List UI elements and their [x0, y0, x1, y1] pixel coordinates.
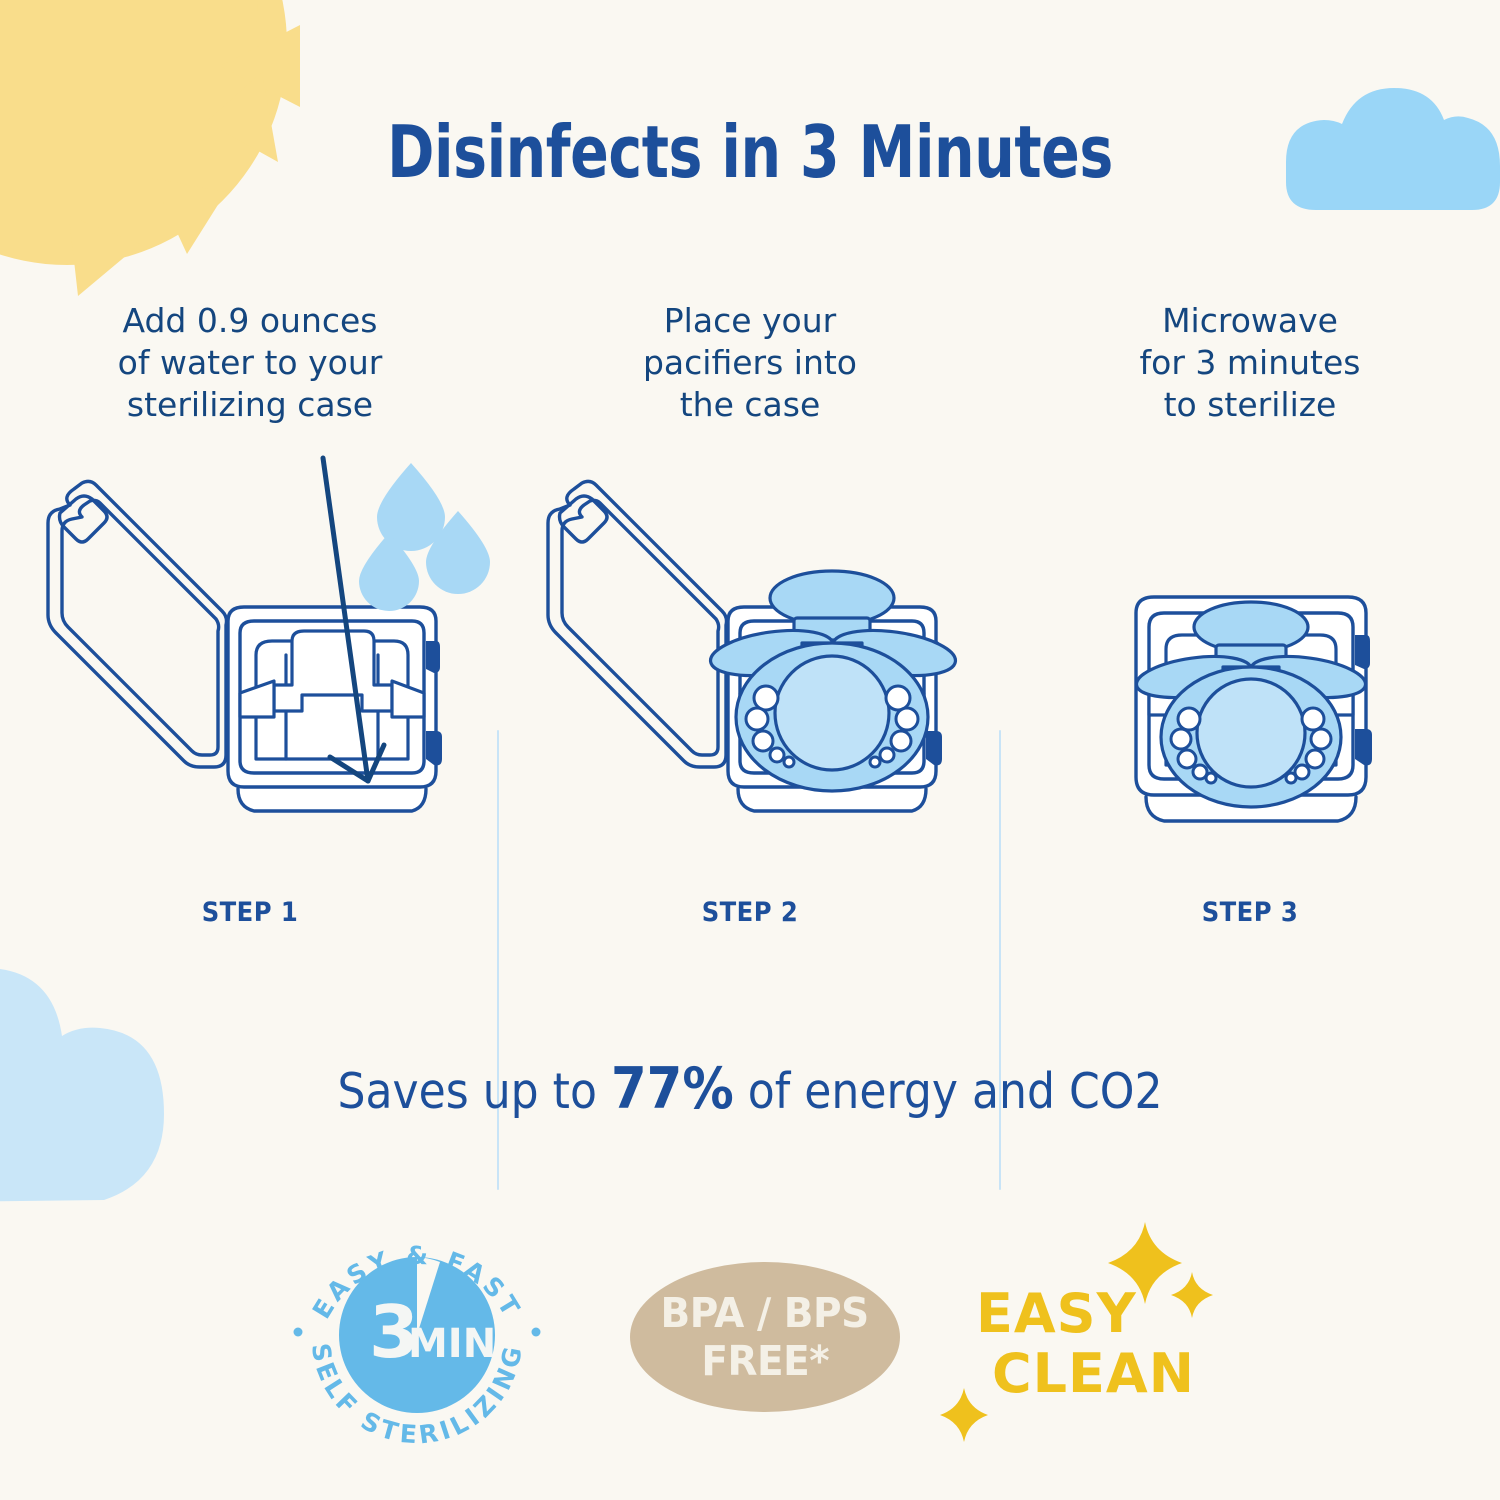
- sparkle-icon: [940, 1388, 988, 1442]
- step-label-1: STEP 1: [52, 897, 448, 928]
- step-caption-line: the case: [680, 385, 821, 424]
- water-drop-icon: [359, 463, 490, 611]
- savings-prefix: Saves up to: [337, 1063, 611, 1120]
- step-caption-line: Microwave: [1162, 301, 1338, 340]
- sparkle-icon: [1171, 1272, 1213, 1318]
- step-caption: Microwave for 3 minutes to sterilize: [1030, 300, 1470, 426]
- badge-easy-clean-line1: EASY: [976, 1282, 1137, 1345]
- step-caption-line: to sterilize: [1164, 385, 1337, 424]
- badge-3min-self-sterilizing: 3 MIN EASY & FAST SELF STERILIZING: [282, 1220, 552, 1450]
- step-caption-line: pacifiers into: [643, 343, 857, 382]
- badge-easy-clean-line2: CLEAN: [992, 1342, 1195, 1405]
- step-caption-line: sterilizing case: [127, 385, 373, 424]
- step-caption-line: for 3 minutes: [1140, 343, 1361, 382]
- step-caption-line: of water to your: [118, 343, 383, 382]
- step-column-2: Place your pacifiers into the case: [530, 300, 970, 950]
- step-column-3: Microwave for 3 minutes to sterilize: [1030, 300, 1470, 950]
- open-case-with-pacifier-illustration: [530, 455, 970, 835]
- infographic-canvas: Disinfects in 3 Minutes Add 0.9 ounces o…: [0, 0, 1500, 1500]
- step-caption: Place your pacifiers into the case: [530, 300, 970, 426]
- savings-suffix: of energy and CO2: [734, 1063, 1163, 1120]
- steps-section: Add 0.9 ounces of water to your steriliz…: [0, 300, 1500, 950]
- step-label-3: STEP 3: [1052, 897, 1448, 928]
- step-label-2: STEP 2: [552, 897, 948, 928]
- badges-row: 3 MIN EASY & FAST SELF STERILIZING BPA /…: [0, 1210, 1500, 1460]
- step-caption: Add 0.9 ounces of water to your steriliz…: [30, 300, 470, 426]
- badge-bpa-line1: BPA / BPS: [661, 1289, 869, 1337]
- step-caption-line: Add 0.9 ounces: [122, 301, 377, 340]
- savings-statement: Saves up to 77% of energy and CO2: [75, 1056, 1425, 1122]
- badge-3min-unit: MIN: [408, 1321, 496, 1367]
- step-column-1: Add 0.9 ounces of water to your steriliz…: [30, 300, 470, 950]
- step-caption-line: Place your: [664, 301, 836, 340]
- badge-easy-clean: EASY CLEAN: [940, 1220, 1220, 1450]
- page-title: Disinfects in 3 Minutes: [90, 110, 1410, 194]
- open-case-with-water-drops-illustration: [30, 455, 470, 835]
- badge-bpa-bps-free: BPA / BPS FREE*: [630, 1262, 900, 1412]
- savings-value: 77%: [611, 1056, 734, 1122]
- badge-bpa-line2: FREE*: [701, 1337, 829, 1385]
- closed-case-with-pacifier-illustration: [1030, 455, 1470, 835]
